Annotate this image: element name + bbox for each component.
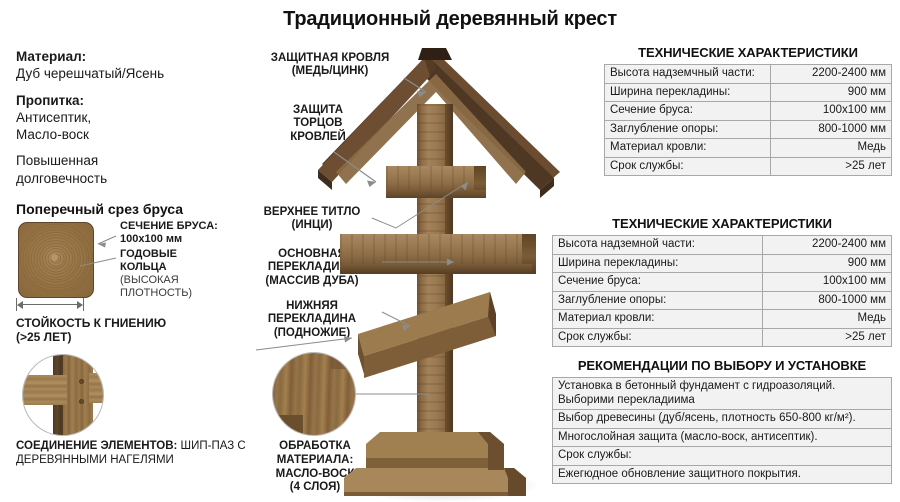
spec-value: 900 мм [763,254,892,273]
dimension-arrow-left-icon [17,301,23,309]
joint-detail-circle [22,354,104,436]
durability-note: Повышенная долговечность [16,152,251,187]
table-row: Высота надземной части:2200-2400 мм [553,236,892,255]
oil-detail-notch-left [273,415,303,436]
joint-label-bold: СОЕДИНЕНИЕ ЭЛЕМЕНТОВ: [16,440,177,452]
table-row: Ширина перекладины:900 мм [553,254,892,273]
table-row: Установка в бетонный фундамент с гидроаз… [553,378,892,410]
recommendations-table: Установка в бетонный фундамент с гидроаз… [552,377,892,484]
table-row: Срок службы: [553,447,892,466]
joint-horizontal-beam-right [89,373,104,403]
impregnation-block: Пропитка: Антисептик, Масло-воск [16,92,251,144]
spec-value: Медь [771,139,892,158]
joint-label: СОЕДИНЕНИЕ ЭЛЕМЕНТОВ: ШИП-ПАЗ С ДЕРЕВЯНН… [16,440,252,468]
spec-value: >25 лет [771,157,892,176]
table-row: Многослойная защита (масло-воск, антисеп… [553,428,892,447]
dimension-arrow-right-icon [77,301,83,309]
diagram-page: Традиционный деревянный крест Материал: … [0,0,900,502]
spec-key: Ширина перекладины: [605,83,771,102]
spec-key: Срок службы: [605,157,771,176]
spec-value: Медь [763,310,892,329]
spec-key: Высота надземчный части: [605,65,771,84]
material-value: Дуб черешчатый/Ясень [16,65,251,82]
rot-resistance-label: СТОЙКОСТЬ К ГНИЕНИЮ (>25 ЛЕТ) [16,316,246,345]
spec-panel-2-title: ТЕХНИЧЕСКИЕ ХАРАКТЕРИСТИКИ [552,216,892,231]
spec-key: Материал кровли: [553,310,763,329]
dimension-tick-right [83,298,84,311]
spec-panel-2: ТЕХНИЧЕСКИЕ ХАРАКТЕРИСТИКИ Высота надзем… [552,216,892,347]
table-row: Высота надземчный части:2200-2400 мм [605,65,892,84]
recommendation-text: Установка в бетонный фундамент с гидроаз… [553,378,892,410]
impregnation-label: Пропитка: [16,92,251,109]
spec-key: Срок службы: [553,328,763,347]
spec-key: Ширина перекладины: [553,254,763,273]
recommendation-text: Ежегюдное обновление защитного покрытия. [553,465,892,484]
spec-key: Заглубление опоры: [553,291,763,310]
spec-key: Заглубление опоры: [605,120,771,139]
recommendation-text: Выбор древесины (дуб/ясень, плотность 65… [553,410,892,429]
spec-key: Высота надземной части: [553,236,763,255]
spec-panel-1: ТЕХНИЧЕСКИЕ ХАРАКТЕРИСТИКИ Высота надзем… [604,45,892,176]
beam-section-callout-label: СЕЧЕНИЕ БРУСА: [120,220,218,232]
material-label: Материал: [16,48,251,65]
recommendations-panel: РЕКОМЕНДАЦИИ ПО ВЫБОРУ И УСТАНОВКЕ Устан… [552,358,892,484]
plinth-lower-top [344,468,526,492]
spec-table-1: Высота надземчный части:2200-2400 ммШири… [604,64,892,176]
plinth-lower-front [344,492,526,496]
table-row: Заглубление опоры:800-1000 мм [553,291,892,310]
spec-value: 900 мм [771,83,892,102]
spec-key: Сечение бруса: [605,102,771,121]
table-row: Ежегюдное обновление защитного покрытия. [553,465,892,484]
table-row: Материал кровли:Медь [605,139,892,158]
spec-value: 2200-2400 мм [771,65,892,84]
spec-value: 2200-2400 мм [763,236,892,255]
spec-value: >25 лет [763,328,892,347]
annual-rings-callout-paren: (ВЫСОКАЯ ПЛОТНОСТЬ) [120,274,192,299]
pith-center [51,254,58,261]
joint-horizontal-beam-left [23,375,67,405]
table-row: Выбор древесины (дуб/ясень, плотность 65… [553,410,892,429]
material-block: Материал: Дуб черешчатый/Ясень [16,48,251,83]
wooden-cross-illustration [318,44,568,496]
dimension-line [19,304,81,305]
cross-section-heading: Поперечный срез бруса [16,201,251,217]
page-title: Традиционный деревянный крест [0,8,900,31]
spec-value: 800-1000 мм [771,120,892,139]
table-row: Заглубление опоры:800-1000 мм [605,120,892,139]
base-plinth [318,44,568,496]
table-row: Срок службы:>25 лет [553,328,892,347]
recommendation-text: Срок службы: [553,447,892,466]
beam-section-callout: СЕЧЕНИЕ БРУСА: 100x100 мм [120,220,252,246]
recommendation-text: Многослойная защита (масло-воск, антисеп… [553,428,892,447]
beam-section-callout-value: 100x100 мм [120,233,182,245]
spec-panel-1-title: ТЕХНИЧЕСКИЕ ХАРАКТЕРИСТИКИ [604,45,892,60]
annual-rings-callout-label: ГОДОВЫЕ КОЛЬЦА [120,248,252,274]
impregnation-value: Антисептик, Масло-воск [16,109,251,144]
beam-cross-section-swatch [18,222,94,298]
spec-value: 100x100 мм [763,273,892,292]
spec-key: Сечение бруса: [553,273,763,292]
spec-value: 100x100 мм [771,102,892,121]
table-row: Ширина перекладины:900 мм [605,83,892,102]
spec-key: Материал кровли: [605,139,771,158]
left-info-column: Материал: Дуб черешчатый/Ясень Пропитка:… [16,48,251,217]
table-row: Сечение бруса:100x100 мм [553,273,892,292]
wooden-peg-2 [79,399,84,404]
spec-value: 800-1000 мм [763,291,892,310]
annual-rings-callout: ГОДОВЫЕ КОЛЬЦА (ВЫСОКАЯ ПЛОТНОСТЬ) [120,248,252,300]
table-row: Срок службы:>25 лет [605,157,892,176]
wooden-peg-1 [79,379,84,384]
recommendations-title: РЕКОМЕНДАЦИИ ПО ВЫБОРУ И УСТАНОВКЕ [552,358,892,373]
table-row: Сечение бруса:100x100 мм [605,102,892,121]
table-row: Материал кровли:Медь [553,310,892,329]
spec-table-2: Высота надземной части:2200-2400 ммШирин… [552,235,892,347]
beam-width-dimension [14,298,86,312]
